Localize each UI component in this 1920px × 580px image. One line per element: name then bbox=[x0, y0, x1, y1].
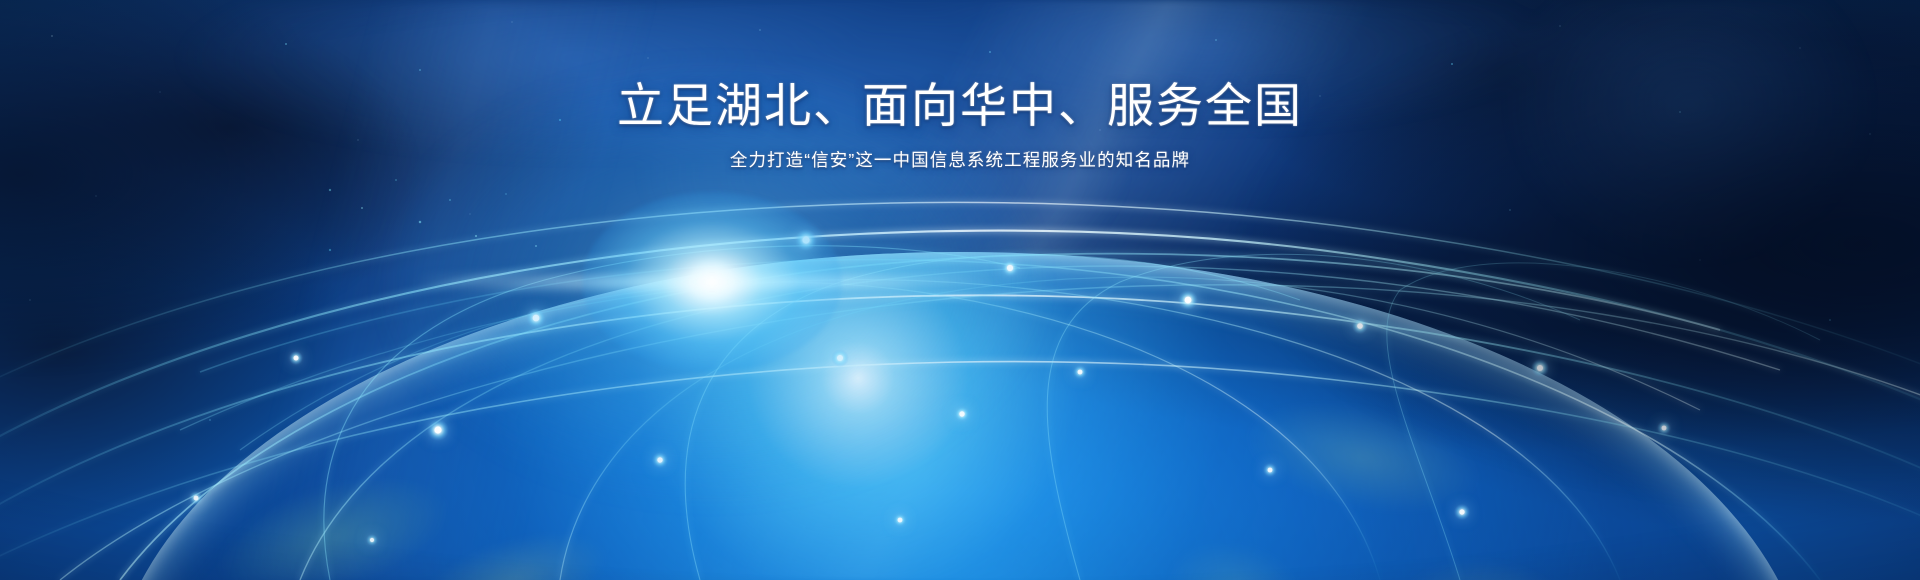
hero-banner: 立足湖北、面向华中、服务全国 全力打造“信安”这一中国信息系统工程服务业的知名品… bbox=[0, 0, 1920, 580]
banner-title: 立足湖北、面向华中、服务全国 bbox=[0, 78, 1920, 133]
banner-text-block: 立足湖北、面向华中、服务全国 全力打造“信安”这一中国信息系统工程服务业的知名品… bbox=[0, 78, 1920, 174]
banner-subtitle: 全力打造“信安”这一中国信息系统工程服务业的知名品牌 bbox=[0, 147, 1920, 173]
burst-core bbox=[582, 192, 842, 372]
